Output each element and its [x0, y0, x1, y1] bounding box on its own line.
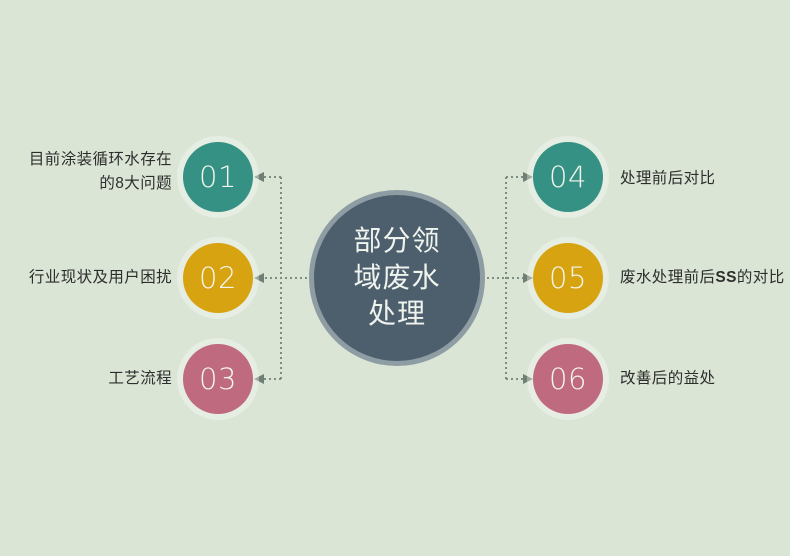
node-number-02: 02: [199, 264, 237, 293]
node-label-05-emphasis: SS: [715, 269, 736, 286]
node-circle-01[interactable]: 01: [183, 142, 253, 212]
node-label-03: 工艺流程: [0, 367, 172, 391]
arrowhead-05: [523, 273, 533, 283]
center-hub[interactable]: 部分领 域废水 处理: [309, 190, 485, 366]
arrowhead-03: [254, 374, 264, 384]
node-label-06: 改善后的益处: [620, 367, 790, 391]
node-label-02: 行业现状及用户困扰: [0, 266, 172, 290]
arrowhead-04: [523, 172, 533, 182]
node-number-06: 06: [549, 365, 587, 394]
node-circle-05[interactable]: 05: [533, 243, 603, 313]
arrowhead-06: [523, 374, 533, 384]
node-number-01: 01: [199, 163, 237, 192]
arrowhead-01: [254, 172, 264, 182]
node-label-05: 废水处理前后SS的对比: [620, 266, 790, 290]
center-hub-title: 部分领 域废水 处理: [337, 223, 457, 334]
node-label-01: 目前涂装循环水存在 的8大问题: [0, 148, 172, 196]
infographic-canvas: 部分领 域废水 处理 01 02 03 04 05 06 目前涂装循环水存在 的…: [0, 0, 790, 556]
node-label-04: 处理前后对比: [620, 167, 790, 191]
node-number-03: 03: [199, 365, 237, 394]
node-circle-04[interactable]: 04: [533, 142, 603, 212]
node-number-05: 05: [549, 264, 587, 293]
node-label-05-suffix: 的对比: [737, 269, 785, 286]
node-circle-06[interactable]: 06: [533, 344, 603, 414]
node-label-05-prefix: 废水处理前后: [620, 269, 715, 286]
node-circle-02[interactable]: 02: [183, 243, 253, 313]
node-circle-03[interactable]: 03: [183, 344, 253, 414]
arrowhead-02: [254, 273, 264, 283]
node-number-04: 04: [549, 163, 587, 192]
